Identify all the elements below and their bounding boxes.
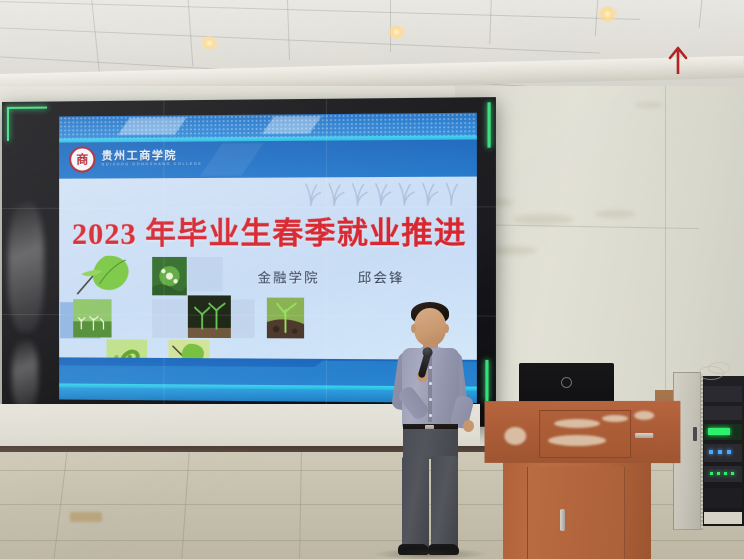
large-leaf-graphic (75, 250, 134, 302)
video-wall-glare (8, 202, 44, 332)
slide-photo-tile (73, 299, 111, 337)
slide-accent-tile (188, 257, 223, 291)
rack-unit (704, 466, 742, 482)
rack-unit (704, 386, 742, 402)
video-wall-seam (326, 99, 327, 425)
ceiling-downlight (200, 36, 219, 50)
rack-unit (704, 512, 742, 524)
video-wall-seam (163, 100, 164, 423)
floor-stain (70, 512, 102, 522)
cabinet-handle[interactable] (560, 509, 565, 531)
slide-light-streak (118, 117, 187, 135)
shirt-placket (428, 354, 432, 422)
video-wall-led-edge (7, 107, 9, 141)
presenter-right-hand (463, 420, 474, 432)
rack-blue-led (709, 450, 713, 454)
rack-green-led (717, 472, 720, 475)
video-wall-led-edge (7, 107, 47, 109)
rack-unit-display (704, 424, 742, 440)
rack-unit (704, 488, 742, 508)
rack-green-led (708, 428, 730, 435)
podium-cabinet-door[interactable] (527, 467, 625, 559)
red-arrow-wall-marking (668, 44, 688, 74)
podium-cabinet[interactable] (503, 461, 651, 559)
ceiling-downlight (387, 25, 406, 39)
slide-photo-tile (188, 295, 231, 338)
university-seal-icon: 商 (69, 146, 95, 172)
institution-name-en: GUIZHOU GONGSHANG COLLEGE (101, 163, 202, 167)
lecture-hall-scene: 商 贵州工商学院 GUIZHOU GONGSHANG COLLEGE (0, 0, 744, 559)
rack-blue-led (727, 450, 731, 454)
presenter-hips (403, 429, 458, 459)
av-equipment-rack[interactable] (700, 376, 744, 526)
dell-logo-icon (561, 377, 572, 388)
rack-door-latch[interactable] (693, 427, 697, 441)
presenter-floor-shadow (374, 548, 486, 559)
slide-subtitle-presenter: 邱会锋 (358, 270, 405, 285)
slide-photo-tile (152, 257, 187, 295)
podium-drawer-handle[interactable] (635, 433, 653, 438)
slide-subtitle-department: 金融学院 (258, 270, 320, 285)
video-wall-glare (12, 340, 38, 410)
slide-photo-tile (267, 298, 304, 339)
rack-blue-led (718, 450, 722, 454)
podium-desktop[interactable] (485, 401, 681, 463)
cable-coil (708, 362, 730, 374)
presenter (381, 300, 479, 559)
rack-unit (704, 444, 742, 462)
rack-green-led (710, 472, 713, 475)
presenter-leg (402, 456, 429, 548)
rack-green-led (724, 472, 727, 475)
slide-title: 2023 年毕业生春季就业推进 (67, 207, 471, 253)
rack-unit (704, 406, 742, 420)
video-wall-led-edge (485, 360, 488, 401)
slide-accent-tile (152, 299, 187, 338)
video-wall-led-edge (487, 102, 490, 147)
ceiling-downlight (597, 6, 618, 22)
rack-green-led (731, 472, 734, 475)
institution-logo: 商 贵州工商学院 GUIZHOU GONGSHANG COLLEGE (69, 146, 202, 173)
slide-subtitle: 金融学院 邱会锋 (258, 267, 405, 287)
presenter-leg (431, 456, 458, 548)
